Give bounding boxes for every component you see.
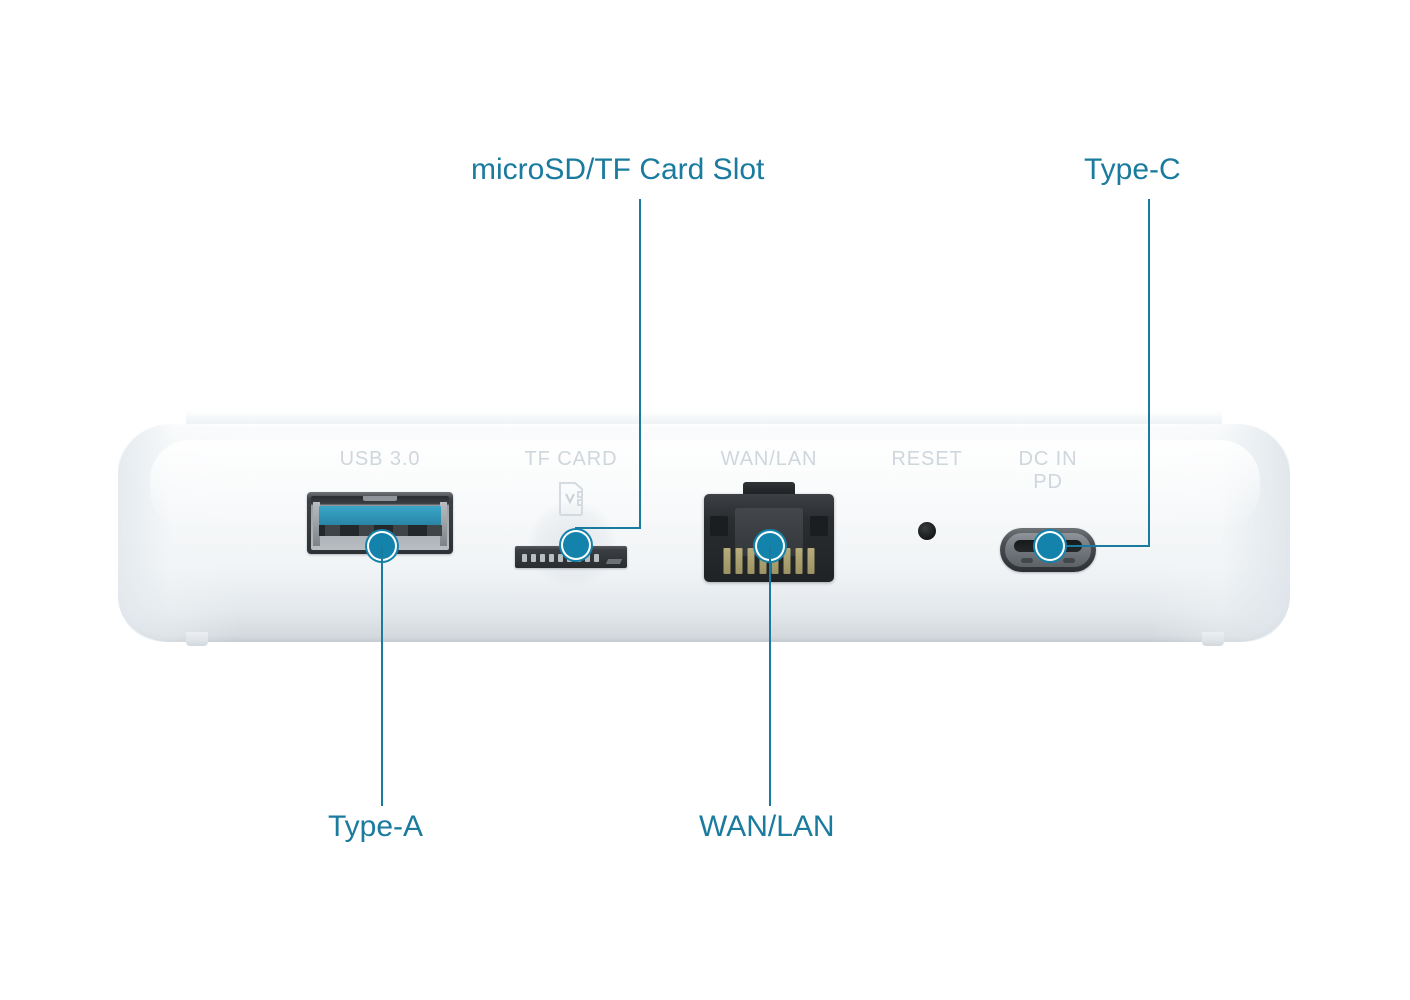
leader-line-wanlan-vertical [769, 546, 771, 806]
silkscreen-label-dc-in-pd: DC IN PD [975, 448, 1121, 494]
tf-pin-row [522, 554, 599, 562]
callout-label-microsd: microSD/TF Card Slot [471, 153, 764, 187]
usb-c-dimple-left [1021, 558, 1033, 563]
silkscreen-label-tfcard: TF CARD [498, 448, 644, 471]
tf-pin [549, 554, 554, 562]
tf-pin [585, 554, 590, 562]
callout-label-typec: Type-C [1084, 153, 1181, 187]
callout-label-typea: Type-A [328, 810, 423, 844]
leader-line-typec-horizontal [1050, 545, 1150, 547]
rj45-pin [724, 548, 731, 574]
leader-line-microsd-horizontal [575, 527, 641, 529]
usb-a-pin [427, 525, 442, 536]
device-foot-left [186, 632, 208, 646]
usb-a-top-tab [363, 496, 397, 501]
tf-pin [540, 554, 545, 562]
silkscreen-label-usb30: USB 3.0 [307, 448, 453, 471]
tf-pin [531, 554, 536, 562]
device-foot-right [1202, 632, 1224, 646]
device-top-surface [186, 409, 1222, 431]
callout-dot-microsd[interactable] [563, 532, 589, 558]
tf-pin [522, 554, 527, 562]
leader-line-microsd-vertical [639, 199, 641, 528]
tf-slot-keying-notch [606, 559, 622, 564]
silkscreen-label-wanlan: WAN/LAN [696, 448, 842, 471]
diagram-canvas: USB 3.0 TF CARD WAN/LAN RESET DC IN PD [0, 0, 1410, 1000]
rj45-pin [736, 548, 743, 574]
usb-a-pin [359, 525, 374, 536]
usb-a-side-right [440, 502, 447, 546]
rj45-pin [796, 548, 803, 574]
usb-a-pin [325, 525, 340, 536]
usb-a-blue-tongue [319, 506, 441, 525]
leader-line-typea-vertical [381, 546, 383, 806]
rj45-pin [748, 548, 755, 574]
reset-pinhole-button[interactable] [918, 522, 936, 540]
tf-pin [558, 554, 563, 562]
rj45-pin [784, 548, 791, 574]
callout-label-wanlan: WAN/LAN [699, 810, 835, 844]
rj45-shoulder-right [810, 516, 828, 536]
usb-a-pin [393, 525, 408, 536]
tf-pin [594, 554, 599, 562]
usb-c-dimple-right [1063, 558, 1075, 563]
rj45-shoulder-left [710, 516, 728, 536]
leader-line-typec-vertical [1148, 199, 1150, 546]
callout-dot-typec[interactable] [1037, 533, 1063, 559]
rj45-pin [808, 548, 815, 574]
